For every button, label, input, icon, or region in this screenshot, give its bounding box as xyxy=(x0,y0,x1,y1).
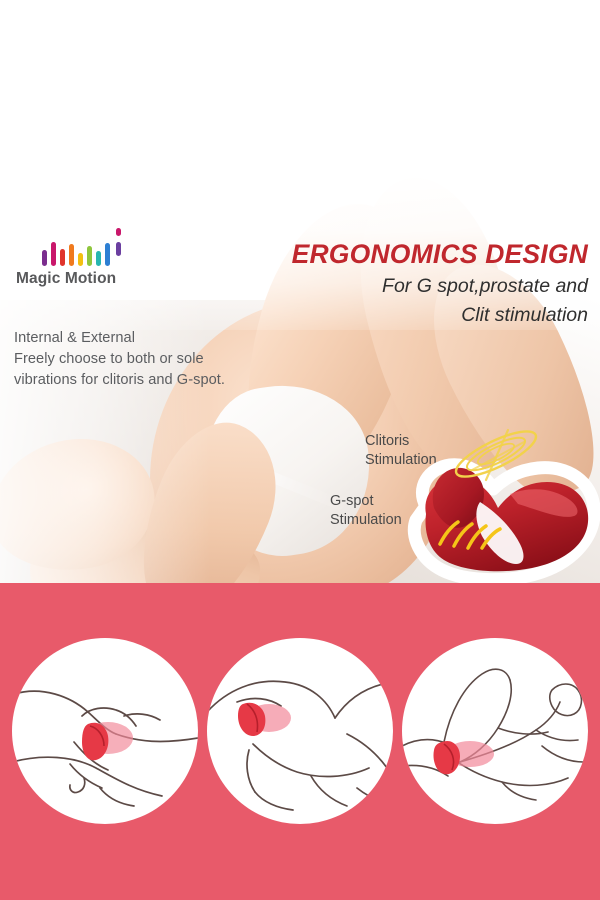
feature-line-1: Internal & External xyxy=(14,328,304,349)
usage-circle-2 xyxy=(207,638,393,824)
usage-circles-row xyxy=(0,638,600,838)
usage-circle-3 xyxy=(402,638,588,824)
callout-gspot-line-2: Stimulation xyxy=(330,511,402,530)
headline-block: ERGONOMICS DESIGN For G spot,prostate an… xyxy=(228,238,588,328)
brand-lockup: Magic Motion xyxy=(16,228,246,288)
feature-line-3: vibrations for clitoris and G-spot. xyxy=(14,370,304,391)
brand-name: Magic Motion xyxy=(16,270,246,288)
logo-accent-dot xyxy=(116,228,121,236)
headline-subtitle-line-1: For G spot,prostate and xyxy=(228,273,588,299)
feature-line-2: Freely choose to both or sole xyxy=(14,349,304,370)
usage-circle-1 xyxy=(12,638,198,824)
equalizer-bars-logo-icon xyxy=(42,228,142,266)
headline-subtitle-line-2: Clit stimulation xyxy=(228,302,588,328)
feature-description: Internal & External Freely choose to bot… xyxy=(14,328,304,391)
callout-gspot-stimulation: G-spot Stimulation xyxy=(330,492,402,530)
photo-left-fade xyxy=(0,0,210,583)
callout-gspot-line-1: G-spot xyxy=(330,492,402,511)
product-illustration xyxy=(392,432,600,602)
product-marketing-poster: Magic Motion Internal & External Freely … xyxy=(0,0,600,900)
usage-scenarios-band xyxy=(0,583,600,900)
headline-title: ERGONOMICS DESIGN xyxy=(228,238,588,270)
